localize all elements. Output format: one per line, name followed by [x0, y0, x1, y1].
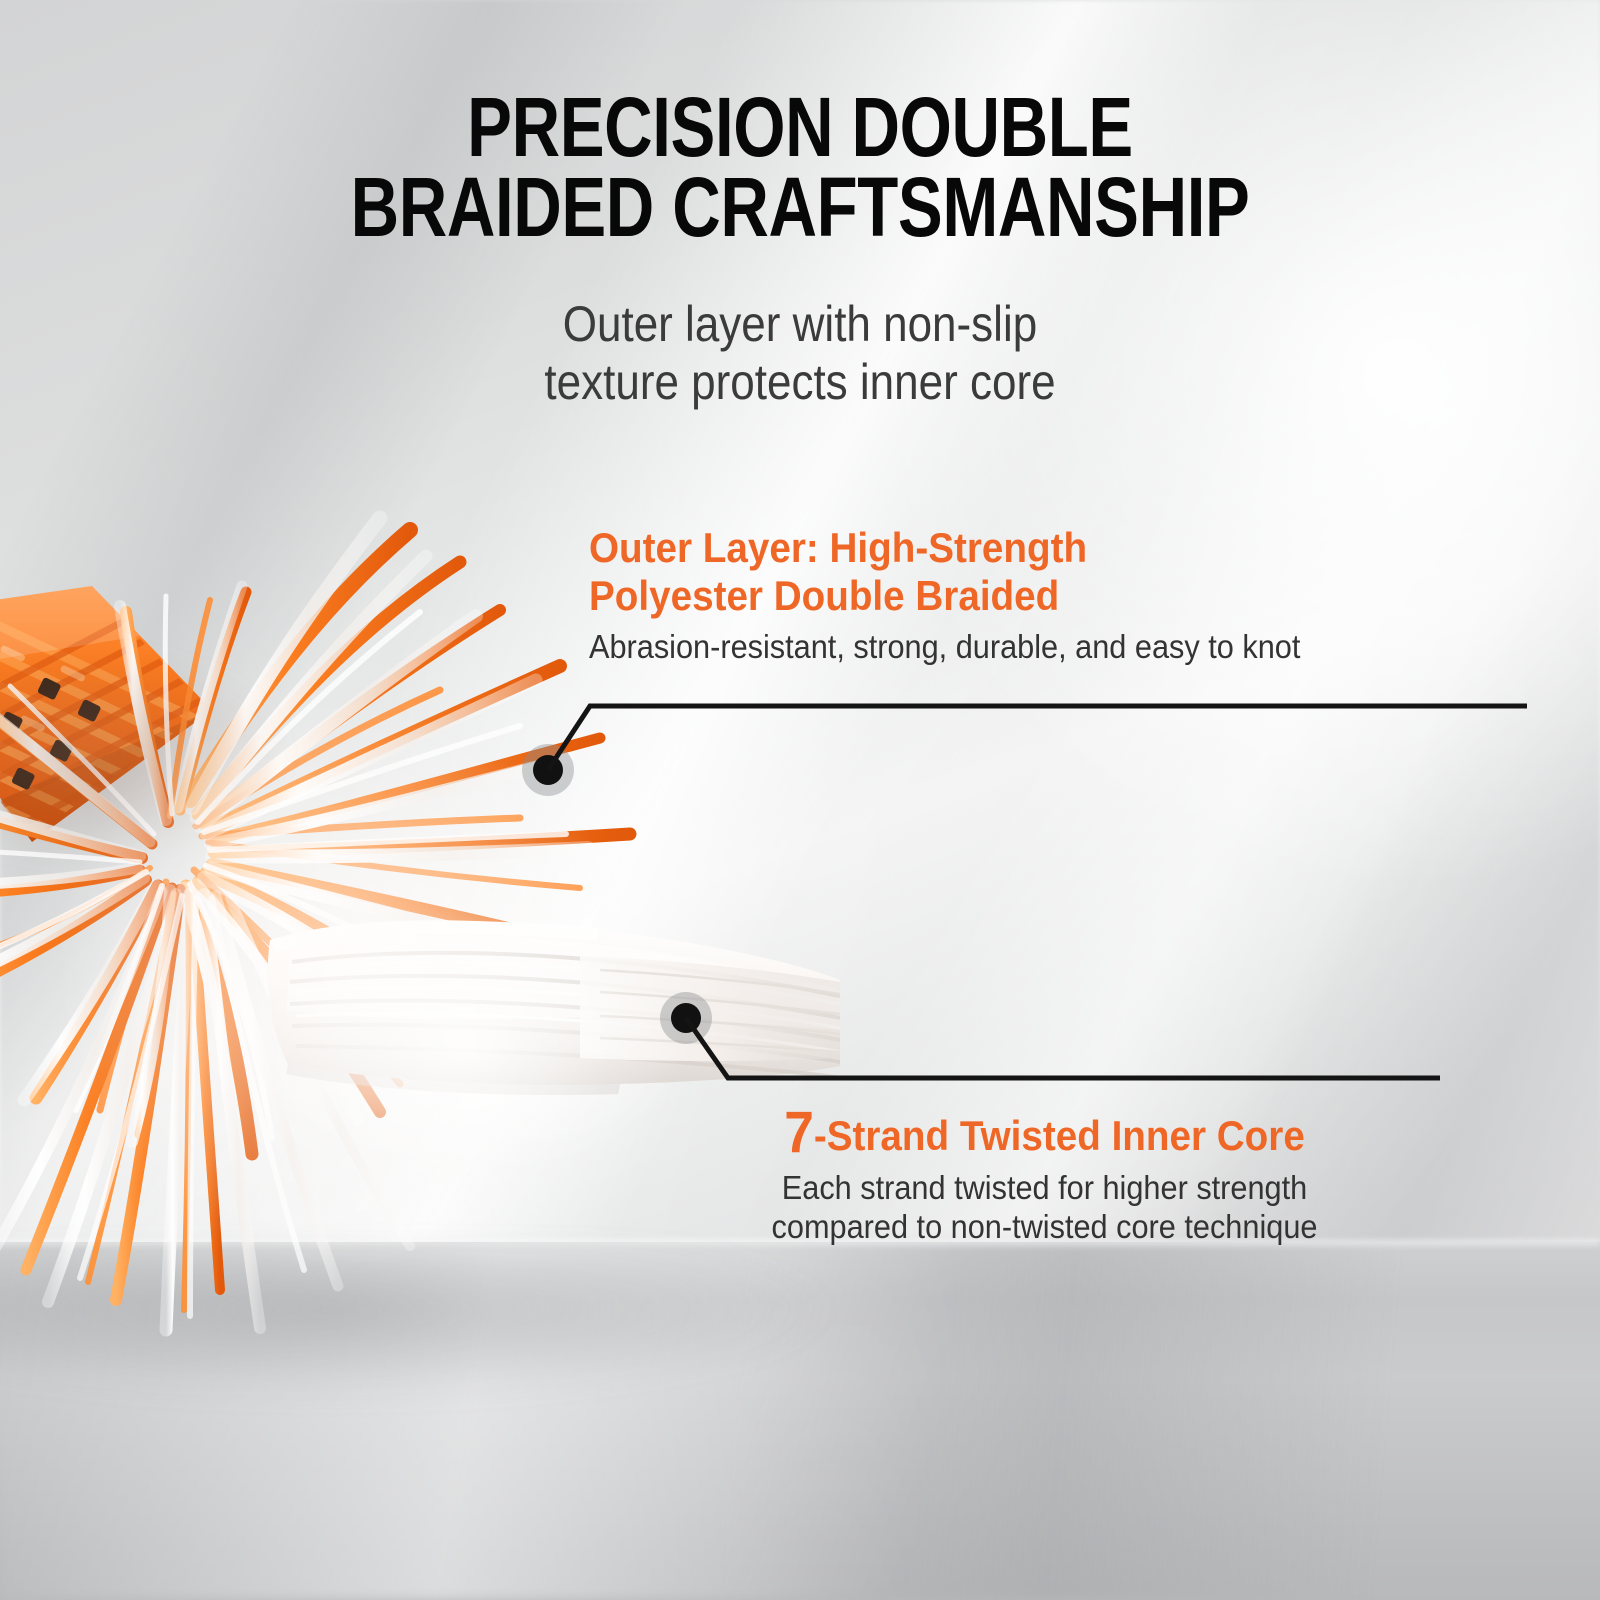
callout2-heading-rest: -Strand Twisted Inner Core: [814, 1112, 1305, 1159]
callout-outer-layer: Outer Layer: High-Strength Polyester Dou…: [589, 524, 1354, 666]
callout2-heading-line-1: 7-Strand Twisted Inner Core: [774, 1112, 1314, 1160]
callout-inner-core-heading: 7-Strand Twisted Inner Core: [774, 1112, 1314, 1160]
title-line-1: PRECISION DOUBLE: [160, 88, 1440, 168]
callout1-heading-line-1: Outer Layer: High-Strength: [589, 524, 1293, 572]
inner-core-highlight: [270, 900, 700, 1190]
callout2-body-line-2: compared to non-twisted core technique: [772, 1207, 1318, 1247]
callout-outer-layer-heading: Outer Layer: High-Strength Polyester Dou…: [589, 524, 1293, 620]
page-title: PRECISION DOUBLE BRAIDED CRAFTSMANSHIP: [160, 88, 1440, 248]
page-subtitle: Outer layer with non-slip texture protec…: [96, 295, 1504, 411]
callout1-body-line-1: Abrasion-resistant, strong, durable, and…: [589, 627, 1300, 667]
callout1-heading-line-2: Polyester Double Braided: [589, 572, 1293, 620]
subtitle-line-2: texture protects inner core: [96, 353, 1504, 411]
callout2-strand-count: 7: [784, 1100, 814, 1165]
subtitle-line-1: Outer layer with non-slip: [96, 295, 1504, 353]
callout-inner-core: 7-Strand Twisted Inner Core Each strand …: [751, 1112, 1338, 1247]
title-line-2: BRAIDED CRAFTSMANSHIP: [160, 168, 1440, 248]
callout2-body-line-1: Each strand twisted for higher strength: [772, 1168, 1318, 1208]
infographic-canvas: PRECISION DOUBLE BRAIDED CRAFTSMANSHIP O…: [0, 0, 1600, 1600]
callout-inner-core-body: Each strand twisted for higher strength …: [772, 1168, 1318, 1247]
callout-outer-layer-body: Abrasion-resistant, strong, durable, and…: [589, 627, 1300, 667]
